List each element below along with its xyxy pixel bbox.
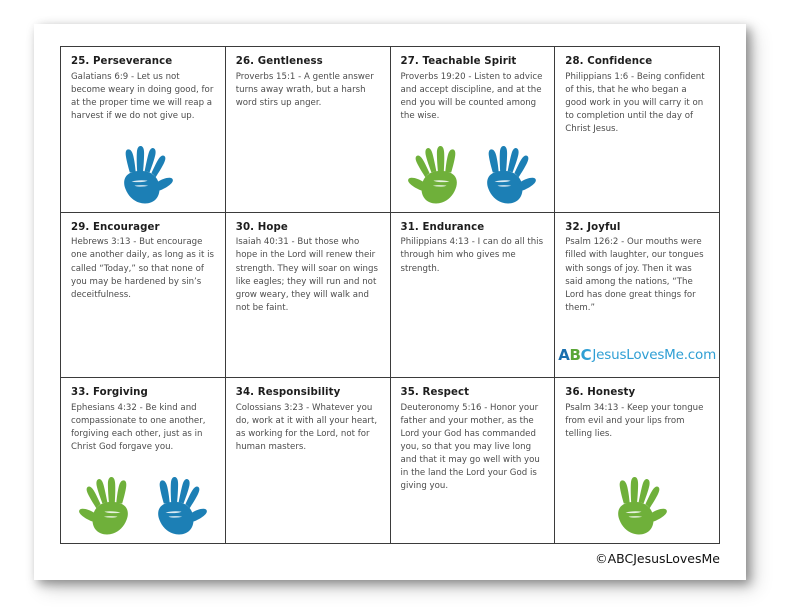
- trait-title: 30. Hope: [236, 222, 380, 235]
- trait-verse: Isaiah 40:31 - But those who hope in the…: [236, 236, 380, 314]
- trait-title: 25. Perseverance: [71, 56, 215, 69]
- footer-copyright: ©ABCJesusLovesMe: [34, 551, 720, 566]
- trait-cell: 32. JoyfulPsalm 126:2 - Our mouths were …: [555, 213, 720, 379]
- handprint-blue-icon: [112, 136, 174, 206]
- trait-verse: Proverbs 15:1 - A gentle answer turns aw…: [236, 71, 380, 110]
- trait-cell: 27. Teachable SpiritProverbs 19:20 - Lis…: [391, 47, 556, 213]
- trait-title: 27. Teachable Spirit: [401, 56, 545, 69]
- character-traits-grid: 25. PerseveranceGalatians 6:9 - Let us n…: [60, 46, 720, 544]
- handprint-blue-icon: [475, 136, 537, 206]
- trait-cell: 30. HopeIsaiah 40:31 - But those who hop…: [226, 213, 391, 379]
- handprint-blue-icon: [146, 467, 208, 537]
- trait-verse: Philippians 4:13 - I can do all this thr…: [401, 236, 545, 275]
- logo-letter-c: C: [581, 346, 592, 364]
- logo-abc-letters: ABC: [558, 348, 591, 363]
- logo-domain-text: JesusLovesMe.com: [591, 349, 716, 363]
- trait-title: 34. Responsibility: [236, 387, 380, 400]
- trait-title: 28. Confidence: [565, 56, 709, 69]
- logo-letter-a: A: [558, 346, 569, 364]
- handprint-green-icon: [78, 467, 140, 537]
- trait-cell: 25. PerseveranceGalatians 6:9 - Let us n…: [61, 47, 226, 213]
- trait-cell: 34. ResponsibilityColossians 3:23 - What…: [226, 378, 391, 544]
- handprint-group: [555, 459, 719, 537]
- trait-title: 33. Forgiving: [71, 387, 215, 400]
- abcjesuslovesme-logo[interactable]: ABCJesusLovesMe.com: [555, 348, 719, 363]
- trait-cell: 31. EndurancePhilippians 4:13 - I can do…: [391, 213, 556, 379]
- trait-cell: 33. ForgivingEphesians 4:32 - Be kind an…: [61, 378, 226, 544]
- trait-title: 32. Joyful: [565, 222, 709, 235]
- handprint-group: [61, 459, 225, 537]
- logo-letter-b: B: [570, 346, 581, 364]
- trait-verse: Psalm 126:2 - Our mouths were filled wit…: [565, 236, 709, 314]
- trait-verse: Hebrews 3:13 - But encourage one another…: [71, 236, 215, 301]
- trait-verse: Colossians 3:23 - Whatever you do, work …: [236, 402, 380, 454]
- trait-verse: Ephesians 4:32 - Be kind and compassiona…: [71, 402, 215, 454]
- trait-verse: Philippians 1:6 - Being confident of thi…: [565, 71, 709, 136]
- screenshot-canvas: 25. PerseveranceGalatians 6:9 - Let us n…: [0, 0, 788, 611]
- trait-cell: 35. RespectDeuteronomy 5:16 - Honor your…: [391, 378, 556, 544]
- trait-title: 26. Gentleness: [236, 56, 380, 69]
- handprint-group: [391, 128, 555, 206]
- trait-verse: Deuteronomy 5:16 - Honor your father and…: [401, 402, 545, 493]
- trait-verse: Proverbs 19:20 - Listen to advice and ac…: [401, 71, 545, 123]
- trait-title: 31. Endurance: [401, 222, 545, 235]
- trait-verse: Galatians 6:9 - Let us not become weary …: [71, 71, 215, 123]
- trait-verse: Psalm 34:13 - Keep your tongue from evil…: [565, 402, 709, 441]
- trait-title: 36. Honesty: [565, 387, 709, 400]
- printable-page-sheet: 25. PerseveranceGalatians 6:9 - Let us n…: [34, 24, 746, 580]
- trait-cell: 29. EncouragerHebrews 3:13 - But encoura…: [61, 213, 226, 379]
- trait-cell: 26. GentlenessProverbs 15:1 - A gentle a…: [226, 47, 391, 213]
- handprint-green-icon: [606, 467, 668, 537]
- trait-title: 29. Encourager: [71, 222, 215, 235]
- trait-title: 35. Respect: [401, 387, 545, 400]
- trait-cell: 28. ConfidencePhilippians 1:6 - Being co…: [555, 47, 720, 213]
- handprint-group: [61, 128, 225, 206]
- handprint-green-icon: [407, 136, 469, 206]
- trait-cell: 36. HonestyPsalm 34:13 - Keep your tongu…: [555, 378, 720, 544]
